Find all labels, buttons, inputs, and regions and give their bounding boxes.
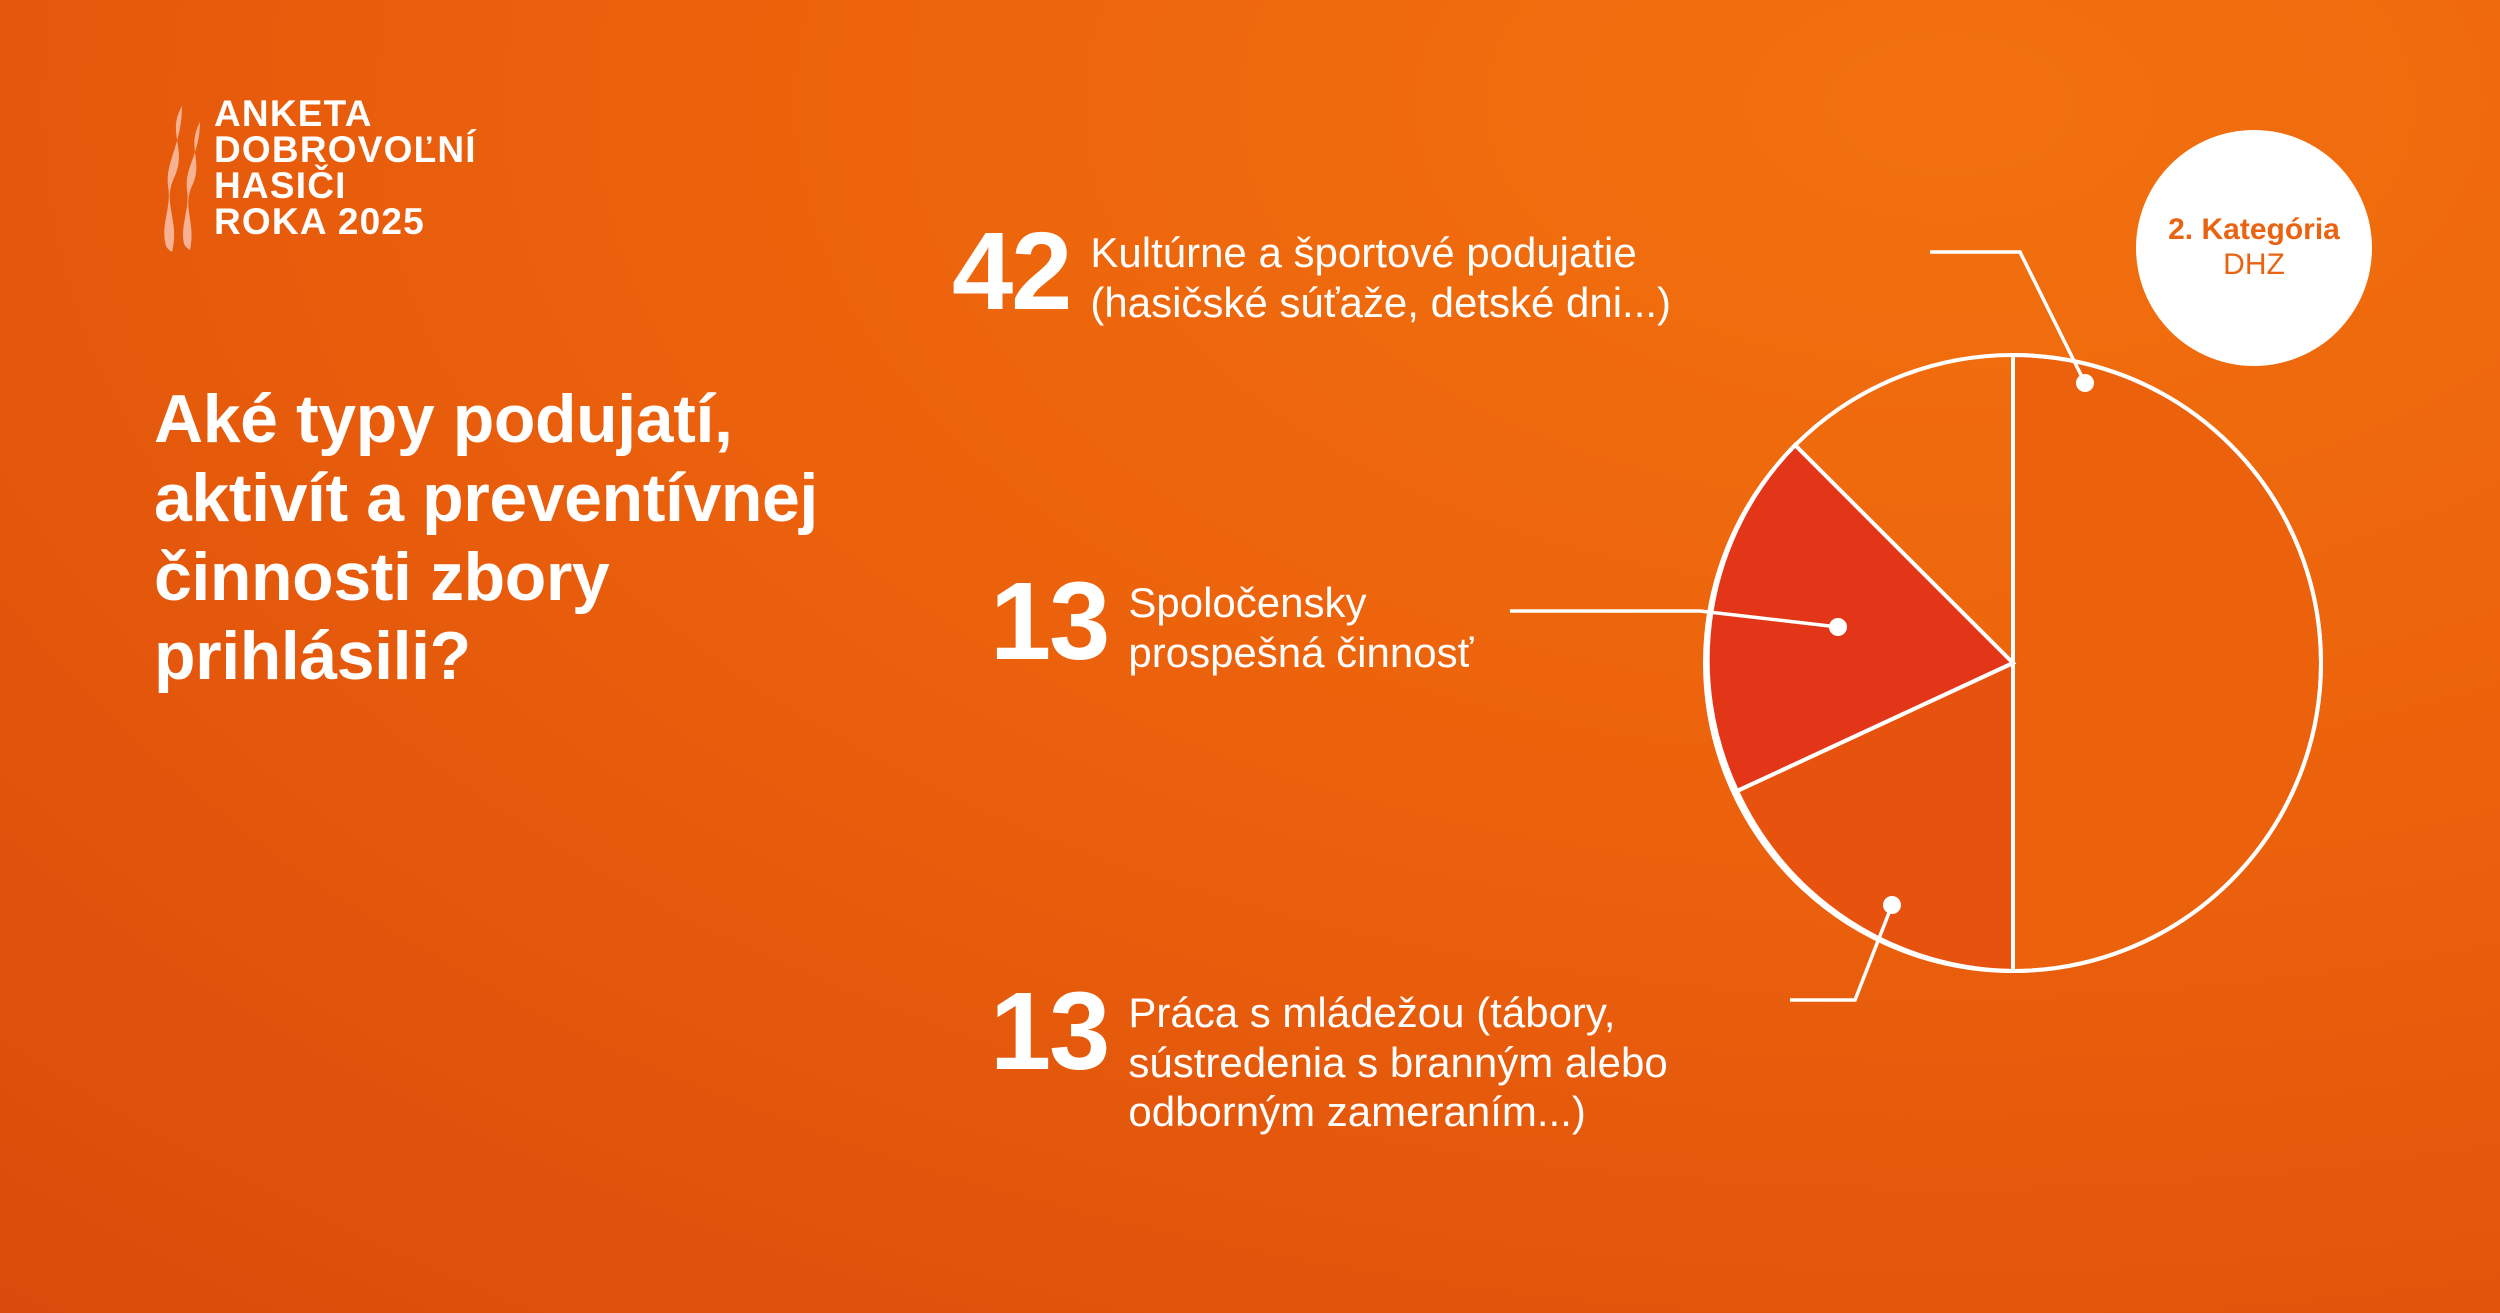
pie-slice-3 — [1737, 663, 2013, 971]
category-badge: 2. Kategória DHZ — [2136, 130, 2372, 366]
logo-line-2: DOBROVOĽNÍ — [214, 132, 477, 168]
callout-label-1-line-2: (hasičské súťaže, detské dni...) — [1090, 278, 1671, 328]
leader-line-3 — [1790, 896, 1901, 1000]
pie-slice-2 — [1708, 445, 2013, 791]
callout-label-3-line-3: odborným zameraním...) — [1128, 1087, 1667, 1137]
callout-item-3: 13 Práca s mládežou (tábory, sústredenia… — [990, 982, 1668, 1137]
logo-line-1: ANKETA — [214, 96, 477, 132]
callout-item-1: 42 Kultúrne a športové podujatie (hasičs… — [952, 222, 1671, 327]
callout-label-3-line-1: Práca s mládežou (tábory, — [1128, 988, 1667, 1038]
callout-item-2: 13 Spoločensky prospešná činnosť — [990, 572, 1473, 677]
pie-outline — [1705, 355, 2321, 971]
callout-label-2-line-1: Spoločensky — [1128, 578, 1473, 628]
flame-icon — [152, 100, 208, 260]
category-badge-subtitle: DHZ — [2223, 246, 2285, 284]
callout-value-2: 13 — [990, 572, 1108, 671]
category-badge-title: 2. Kategória — [2168, 213, 2340, 246]
callout-value-3: 13 — [990, 982, 1108, 1081]
callout-label-2-line-2: prospešná činnosť — [1128, 628, 1473, 678]
callout-label-1-line-1: Kultúrne a športové podujatie — [1090, 228, 1671, 278]
logo-line-4: ROKA 2025 — [214, 204, 477, 240]
logo-line-3: HASIČI — [214, 168, 477, 204]
pie-slice-1 — [2013, 355, 2321, 971]
callout-label-3-line-2: sústredenia s branným alebo — [1128, 1038, 1667, 1088]
callout-label-3: Práca s mládežou (tábory, sústredenia s … — [1128, 982, 1667, 1137]
callout-value-1: 42 — [952, 222, 1070, 321]
leader-line-2 — [1510, 611, 1847, 636]
callout-label-2: Spoločensky prospešná činnosť — [1128, 572, 1473, 677]
page-title: Aké typy podujatí, aktivít a preventívne… — [154, 380, 934, 696]
callout-label-1: Kultúrne a športové podujatie (hasičské … — [1090, 222, 1671, 327]
leader-line-1 — [1930, 252, 2094, 392]
infographic-canvas: ANKETA DOBROVOĽNÍ HASIČI ROKA 2025 Aké t… — [0, 0, 2500, 1313]
brand-logo: ANKETA DOBROVOĽNÍ HASIČI ROKA 2025 — [152, 96, 477, 260]
